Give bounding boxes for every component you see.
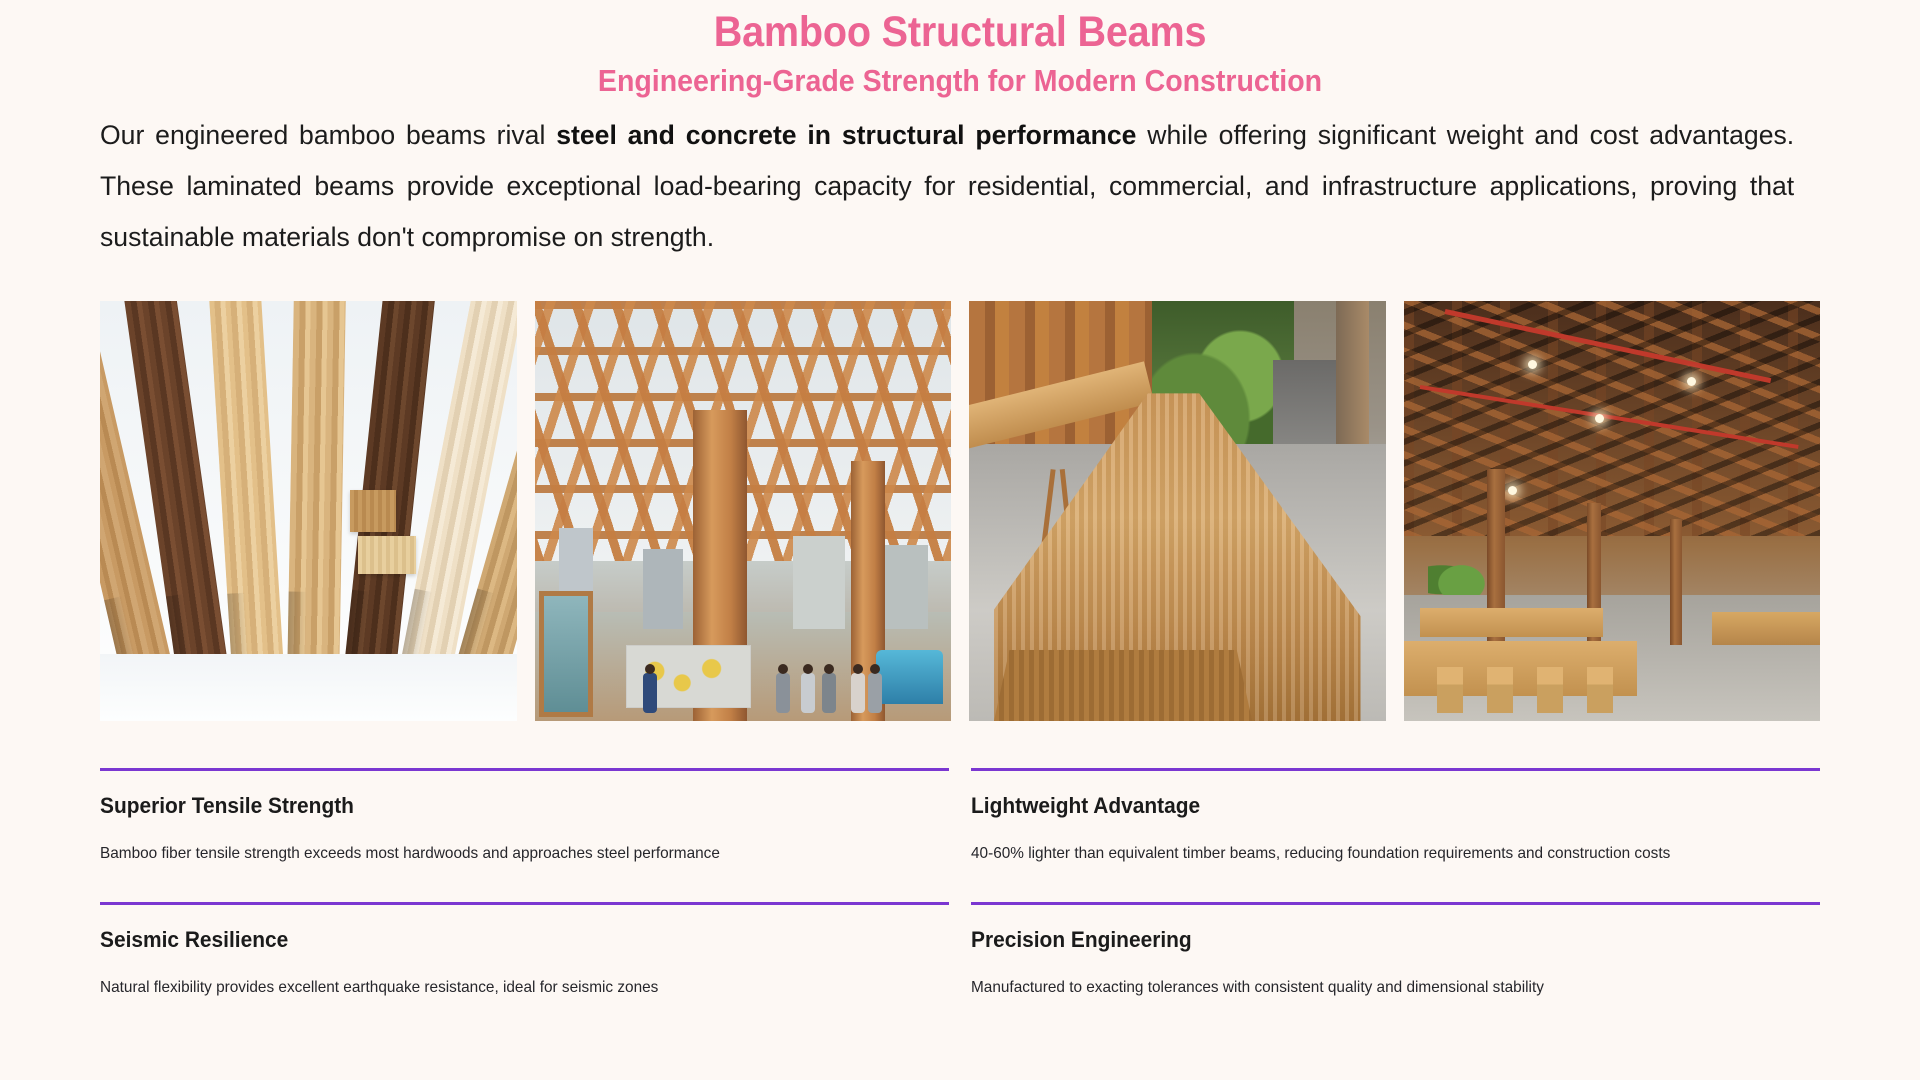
feature-card-superior-tensile-strength: Superior Tensile Strength Bamboo fiber t… xyxy=(100,768,949,902)
studio-floor xyxy=(100,654,517,721)
beam-offcut-block-2 xyxy=(358,536,416,574)
background-tower-4 xyxy=(884,545,928,629)
background-tower-3 xyxy=(793,536,845,628)
pedestrian-figure xyxy=(822,673,836,713)
gallery-image-bamboo-dining-hall[interactable] xyxy=(1404,301,1821,721)
feature-card-title: Lightweight Advantage xyxy=(971,793,1778,819)
beam-end-face xyxy=(994,650,1252,721)
gallery-image-bamboo-beam-samples[interactable] xyxy=(100,301,517,721)
dining-chair xyxy=(1587,667,1613,713)
page-title: Bamboo Structural Beams xyxy=(169,0,1751,58)
laminated-beam-scene xyxy=(969,301,1386,721)
image-gallery xyxy=(100,301,1820,721)
beam-sample-4 xyxy=(287,301,347,688)
background-tower-2 xyxy=(643,549,683,629)
feature-card-title: Precision Engineering xyxy=(971,927,1778,953)
pedestrian-figure xyxy=(868,673,882,713)
feature-card-seismic-resilience: Seismic Resilience Natural flexibility p… xyxy=(100,902,949,1036)
ceiling-spotlight xyxy=(1508,486,1517,495)
dining-chair xyxy=(1437,667,1463,713)
pedestrian-figure xyxy=(801,673,815,713)
intro-emphasis: steel and concrete in structural perform… xyxy=(556,120,1136,150)
pedestrian-figure xyxy=(776,673,790,713)
indoor-plant xyxy=(1428,557,1495,595)
feature-card-description: 40-60% lighter than equivalent timber be… xyxy=(971,843,1786,865)
feature-card-description: Natural flexibility provides excellent e… xyxy=(100,977,915,999)
feature-card-description: Bamboo fiber tensile strength exceeds mo… xyxy=(100,843,915,865)
gallery-image-laminated-bamboo-beam[interactable] xyxy=(969,301,1386,721)
feature-card-lightweight-advantage: Lightweight Advantage 40-60% lighter tha… xyxy=(971,768,1820,902)
dining-hall-scene xyxy=(1404,301,1821,721)
gallery-image-bamboo-canopy-structure[interactable] xyxy=(535,301,952,721)
ceiling-spotlight xyxy=(1687,377,1696,386)
hall-column xyxy=(1670,519,1682,645)
dining-chair xyxy=(1537,667,1563,713)
pedestrian-figure xyxy=(851,673,865,713)
counter-bench xyxy=(1712,612,1820,646)
intro-lead: Our engineered bamboo beams rival xyxy=(100,120,556,150)
feature-card-description: Manufactured to exacting tolerances with… xyxy=(971,977,1786,999)
pedestrian-figure xyxy=(643,673,657,713)
dining-chair xyxy=(1487,667,1513,713)
page-root: Bamboo Structural Beams Engineering-Grad… xyxy=(0,0,1920,1080)
feature-card-title: Seismic Resilience xyxy=(100,927,907,953)
dining-table-rear xyxy=(1420,608,1603,637)
bamboo-beam-samples-scene xyxy=(100,301,517,721)
page-subtitle: Engineering-Grade Strength for Modern Co… xyxy=(169,58,1751,100)
intro-paragraph: Our engineered bamboo beams rival steel … xyxy=(100,110,1794,263)
playground-canopy xyxy=(876,650,943,705)
feature-grid: Superior Tensile Strength Bamboo fiber t… xyxy=(100,768,1820,1036)
feature-card-precision-engineering: Precision Engineering Manufactured to ex… xyxy=(971,902,1820,1036)
feature-card-title: Superior Tensile Strength xyxy=(100,793,907,819)
bamboo-canopy-scene xyxy=(535,301,952,721)
glass-door xyxy=(539,591,593,717)
beam-offcut-block-1 xyxy=(350,490,396,532)
